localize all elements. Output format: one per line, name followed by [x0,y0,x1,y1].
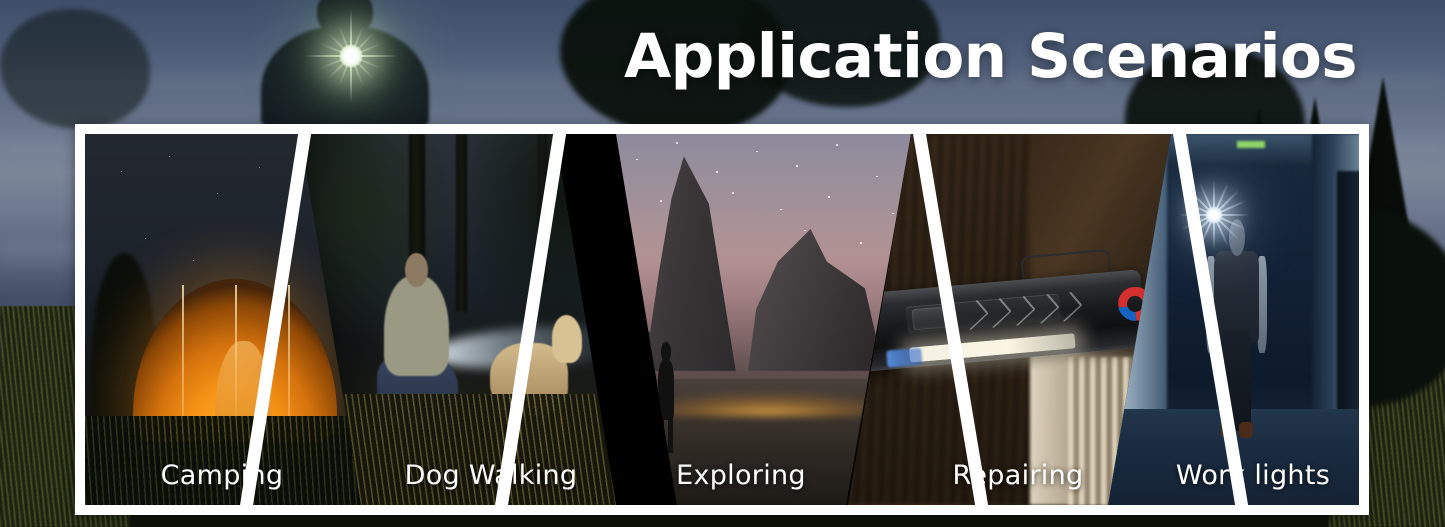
scenario-panels: Camping [85,134,1359,505]
flashlight-starburst-icon [303,8,399,104]
page-title: Application Scenarios [624,26,1357,87]
application-scenarios-banner: Application Scenarios [0,0,1445,527]
starfield [540,134,940,342]
exit-sign [1237,141,1265,148]
panel-label-camping: Camping [85,460,385,491]
door [1337,171,1359,446]
silhouette-person [255,0,435,126]
explorer-silhouette [652,342,680,453]
scenario-strip-frame: Camping [75,124,1369,515]
